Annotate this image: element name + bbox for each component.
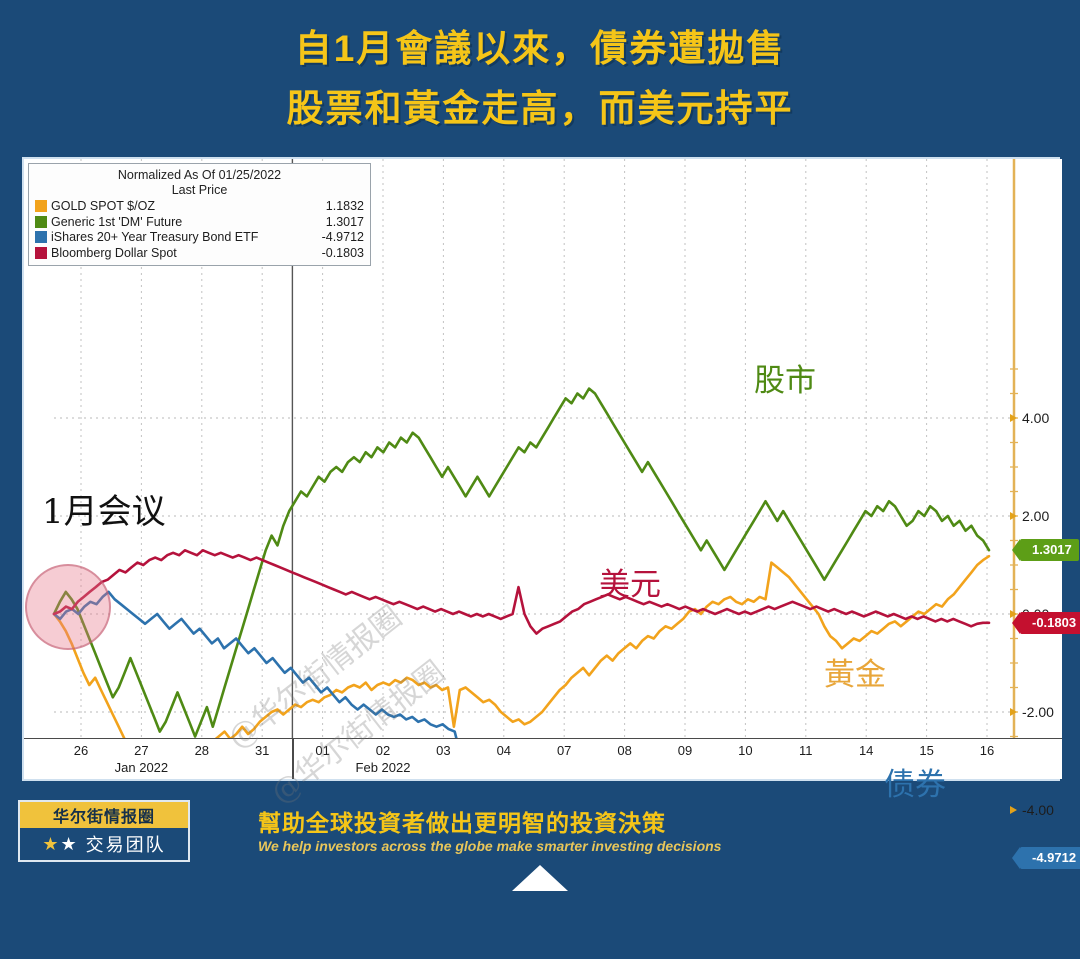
y-axis-label: -2.00 xyxy=(1022,704,1054,720)
series-line xyxy=(54,550,989,633)
chart-legend: Normalized As Of 01/25/2022 Last Price G… xyxy=(28,163,371,266)
legend-value: -0.1803 xyxy=(303,246,364,262)
legend-name: iShares 20+ Year Treasury Bond ETF xyxy=(35,230,303,246)
legend-header-normalized: Normalized As Of 01/25/2022 xyxy=(35,168,364,183)
slogan-chinese: 幫助全球投資者做出更明智的投資決策 xyxy=(258,804,666,838)
x-axis-month-label: Feb 2022 xyxy=(356,760,411,775)
annotation-stocks: 股市 xyxy=(754,355,816,400)
legend-value: 1.1832 xyxy=(303,199,364,215)
legend-row: Generic 1st 'DM' Future1.3017 xyxy=(35,215,364,231)
x-axis-month-label: Jan 2022 xyxy=(115,760,169,775)
logo-subtitle: ★★ 交易团队 xyxy=(20,828,188,860)
x-axis-tick-label: 26 xyxy=(74,743,88,758)
legend-value: 1.3017 xyxy=(303,215,364,231)
x-axis-tick-label: 04 xyxy=(497,743,511,758)
plot-wrapper: Normalized As Of 01/25/2022 Last Price G… xyxy=(24,159,1058,779)
series-line xyxy=(54,556,989,739)
value-badge: -4.9712 xyxy=(1020,847,1080,869)
value-badge: 1.3017 xyxy=(1020,539,1079,561)
title-block: 自1月會議以來，債券遭拋售 股票和黃金走高，而美元持平 xyxy=(0,0,1080,150)
y-axis-label: 2.00 xyxy=(1022,508,1049,524)
x-axis-month-separator xyxy=(292,739,294,779)
brand-logo: 华尔街情报圈 ★★ 交易团队 xyxy=(18,800,190,862)
x-axis-tick-label: 07 xyxy=(557,743,571,758)
y-axis-arrow-icon xyxy=(1010,512,1017,520)
value-badge-text: -0.1803 xyxy=(1032,615,1076,630)
x-axis-tick-label: 27 xyxy=(134,743,148,758)
legend-row: Bloomberg Dollar Spot-0.1803 xyxy=(35,246,364,262)
x-axis-tick-label: 11 xyxy=(799,743,813,758)
y-axis-arrow-icon xyxy=(1010,414,1017,422)
star-icon-yellow: ★ xyxy=(42,834,60,855)
legend-table: GOLD SPOT $/OZ1.1832Generic 1st 'DM' Fut… xyxy=(35,199,364,261)
legend-value: -4.9712 xyxy=(303,230,364,246)
x-axis-tick-label: 31 xyxy=(255,743,269,758)
value-badge-text: -4.9712 xyxy=(1032,850,1076,865)
x-axis-tick-label: 02 xyxy=(376,743,390,758)
highlight-circle-january-meeting xyxy=(25,564,111,650)
x-axis-tick-label: 10 xyxy=(738,743,752,758)
legend-name: Bloomberg Dollar Spot xyxy=(35,246,303,262)
x-axis-tick-label: 09 xyxy=(678,743,692,758)
value-badge: -0.1803 xyxy=(1020,612,1080,634)
y-axis-arrow-icon xyxy=(1010,708,1017,716)
x-axis-tick-label: 28 xyxy=(195,743,209,758)
x-axis-tick-label: 16 xyxy=(980,743,994,758)
legend-row: iShares 20+ Year Treasury Bond ETF-4.971… xyxy=(35,230,364,246)
title-line-2: 股票和黃金走高，而美元持平 xyxy=(287,78,794,132)
scroll-down-arrow-icon xyxy=(512,865,568,891)
x-axis-tick-label: 03 xyxy=(436,743,450,758)
chart-panel: Normalized As Of 01/25/2022 Last Price G… xyxy=(22,157,1060,781)
legend-swatch-icon xyxy=(35,216,47,228)
logo-subtitle-text: 交易团队 xyxy=(86,831,166,857)
annotation-bonds: 债券 xyxy=(884,759,946,804)
legend-swatch-icon xyxy=(35,247,47,259)
legend-row: GOLD SPOT $/OZ1.1832 xyxy=(35,199,364,215)
legend-swatch-icon xyxy=(35,231,47,243)
y-axis-label: 4.00 xyxy=(1022,410,1049,426)
x-axis-tick-label: 14 xyxy=(859,743,873,758)
annotation-gold: 黃金 xyxy=(824,649,886,694)
annotation-dollar: 美元 xyxy=(599,559,661,604)
annotation-january-meeting: 1月会议 xyxy=(42,484,166,533)
legend-name: GOLD SPOT $/OZ xyxy=(35,199,303,215)
title-line-1: 自1月會議以來，債券遭拋售 xyxy=(295,18,786,72)
star-icon-white: ★ xyxy=(60,834,78,855)
x-axis-tick-label: 01 xyxy=(315,743,329,758)
slogan-english: We help investors across the globe make … xyxy=(258,838,721,854)
legend-swatch-icon xyxy=(35,200,47,212)
x-axis-tick-label: 08 xyxy=(617,743,631,758)
logo-title: 华尔街情报圈 xyxy=(20,802,188,828)
legend-name: Generic 1st 'DM' Future xyxy=(35,215,303,231)
x-axis-tick-label: 15 xyxy=(919,743,933,758)
legend-header-lastprice: Last Price xyxy=(35,183,364,198)
value-badge-text: 1.3017 xyxy=(1032,542,1072,557)
footer: 华尔街情报圈 ★★ 交易团队 幫助全球投資者做出更明智的投資決策 We help… xyxy=(0,792,1080,891)
